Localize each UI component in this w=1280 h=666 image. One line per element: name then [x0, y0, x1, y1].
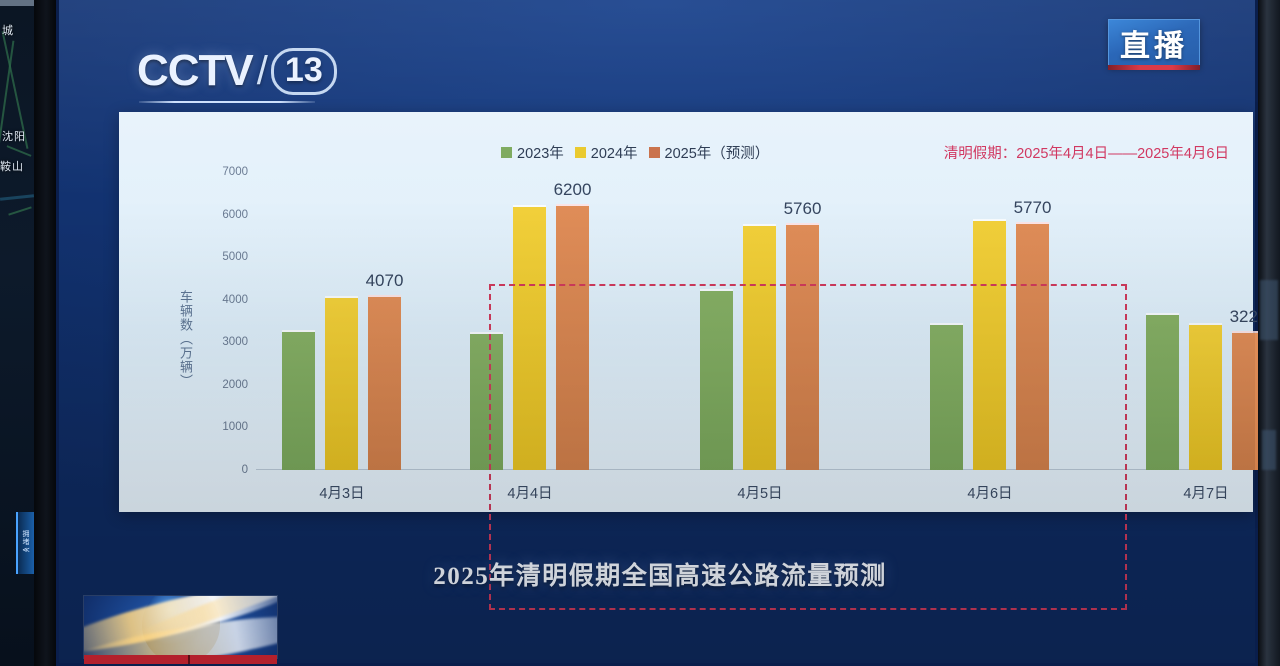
- bar-apr4-2024[interactable]: [513, 207, 546, 470]
- thumbnail-red-bar: [84, 655, 277, 664]
- live-badge: 直播: [1108, 19, 1200, 67]
- legend-label-2023: 2023年: [517, 142, 564, 163]
- map-label-anshan: 鞍山: [0, 158, 24, 174]
- x-tick-apr6: 4月6日: [930, 482, 1050, 503]
- bar-apr3-2023[interactable]: [282, 332, 315, 470]
- side-tab-line-0: 拥: [23, 531, 30, 539]
- channel-logo-text: CCTV: [137, 46, 253, 96]
- display-wall-panel: CCTV / 13 新 闻 直播 2023年 2024年: [56, 0, 1258, 666]
- bar-apr6-2023[interactable]: [930, 325, 963, 470]
- legend-item-2025: 2025年（预测）: [649, 142, 770, 163]
- bar-apr6-2024[interactable]: [973, 221, 1006, 470]
- legend-label-2025: 2025年（预测）: [665, 142, 770, 163]
- bar-apr5-2023[interactable]: [700, 291, 733, 470]
- y-tick-2000: 2000: [222, 379, 256, 391]
- y-tick-4000: 4000: [222, 294, 256, 306]
- side-tab-line-1: 堵: [23, 539, 30, 547]
- map-label-0: 城: [2, 22, 14, 38]
- y-axis-title: 车辆数（万辆）: [178, 290, 193, 388]
- slash-icon: /: [257, 49, 268, 94]
- bar-group-apr4: 6200 4月4日: [470, 172, 612, 470]
- map-top-bar: [0, 0, 34, 6]
- legend-swatch-2023: [501, 147, 512, 158]
- live-badge-label: 直播: [1120, 21, 1188, 65]
- map-coastline: [0, 194, 34, 201]
- bar-apr3-2025[interactable]: 4070: [368, 297, 401, 470]
- background-map-panel: 城 沈阳 鞍山 拥 堵 ≪: [0, 0, 34, 666]
- logo-divider: [139, 101, 315, 103]
- bar-apr5-2025[interactable]: 5760: [786, 225, 819, 470]
- bar-group-apr3: 4070 4月3日: [282, 172, 424, 470]
- screen-bezel-left: [34, 0, 56, 666]
- room-edge-right: [1258, 0, 1280, 666]
- bar-apr4-2023[interactable]: [470, 334, 503, 470]
- y-tick-5000: 5000: [222, 251, 256, 263]
- map-congestion-tab[interactable]: 拥 堵 ≪: [16, 512, 34, 574]
- bar-value-apr4: 6200: [554, 180, 592, 200]
- bar-apr3-2024[interactable]: [325, 298, 358, 470]
- chart-plot-area: 车辆数（万辆） 7000 6000 5000 4000 3000 2000 10…: [256, 172, 1216, 470]
- x-tick-apr7: 4月7日: [1146, 482, 1266, 503]
- x-tick-apr4: 4月4日: [470, 482, 590, 503]
- headline-text: 2025年清明假期全国高速公路流量预测: [59, 556, 1261, 592]
- bar-value-apr3: 4070: [366, 271, 404, 291]
- bar-apr4-2025[interactable]: 6200: [556, 206, 589, 470]
- bar-apr7-2024[interactable]: [1189, 325, 1222, 470]
- chart-legend: 2023年 2024年 2025年（预测）: [501, 142, 769, 163]
- bar-apr6-2025[interactable]: 5770: [1016, 224, 1049, 470]
- map-road: [8, 206, 31, 215]
- room-detail: [1260, 280, 1278, 340]
- bar-value-apr6: 5770: [1014, 198, 1052, 218]
- live-badge-underline: [1108, 65, 1200, 70]
- legend-swatch-2024: [575, 147, 586, 158]
- bar-value-apr5: 5760: [784, 199, 822, 219]
- legend-item-2023: 2023年: [501, 142, 564, 163]
- y-tick-1000: 1000: [222, 421, 256, 433]
- legend-swatch-2025: [649, 147, 660, 158]
- thumbnail-bar-separator: [188, 655, 190, 664]
- y-tick-7000: 7000: [222, 166, 256, 178]
- map-label-shenyang: 沈阳: [2, 128, 26, 144]
- chart-card: 2023年 2024年 2025年（预测） 清明假期：2025年4月4日——20…: [119, 112, 1253, 512]
- side-tab-line-2: ≪: [22, 547, 29, 555]
- legend-item-2024: 2024年: [575, 142, 638, 163]
- y-tick-3000: 3000: [222, 336, 256, 348]
- broadcast-screenshot: 城 沈阳 鞍山 拥 堵 ≪ CCTV / 13 新 闻 直播: [0, 0, 1280, 666]
- y-tick-0: 0: [242, 464, 256, 476]
- holiday-range-note: 清明假期：2025年4月4日——2025年4月6日: [944, 142, 1229, 163]
- news-graphic-thumbnail: [84, 596, 277, 658]
- channel-number: 13: [271, 48, 337, 95]
- y-tick-6000: 6000: [222, 209, 256, 221]
- x-tick-apr5: 4月5日: [700, 482, 820, 503]
- room-detail: [1262, 430, 1276, 470]
- bar-apr7-2023[interactable]: [1146, 315, 1179, 470]
- bar-group-apr5: 5760 4月5日: [700, 172, 842, 470]
- bar-group-apr6: 5770 4月6日: [930, 172, 1072, 470]
- bar-apr5-2024[interactable]: [743, 226, 776, 470]
- x-tick-apr3: 4月3日: [282, 482, 402, 503]
- legend-label-2024: 2024年: [591, 142, 638, 163]
